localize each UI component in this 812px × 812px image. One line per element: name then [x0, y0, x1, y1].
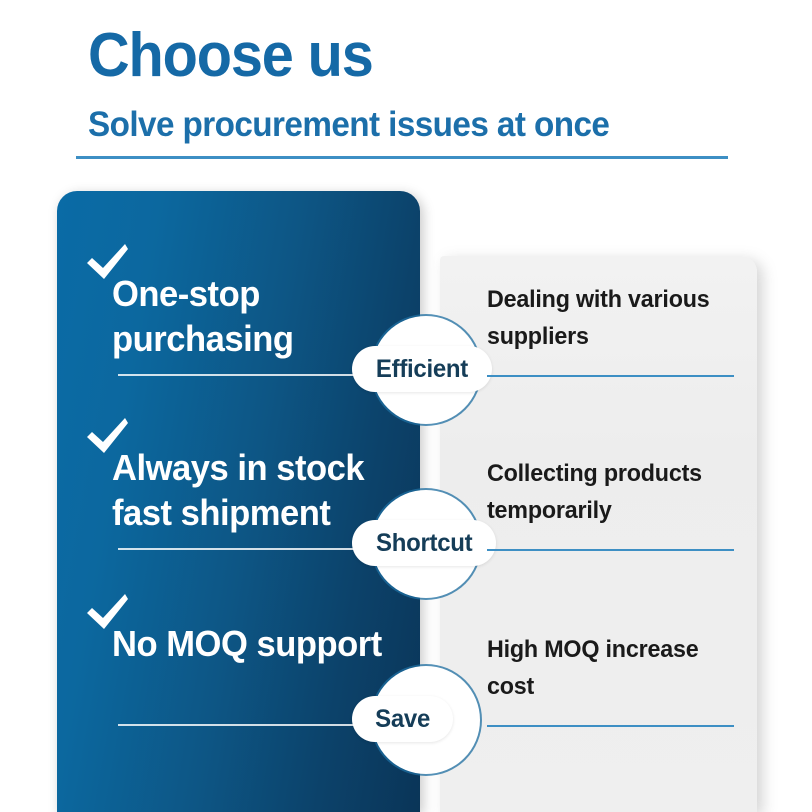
badge-label: Save — [375, 705, 430, 734]
choose-us-infographic: Choose us Solve procurement issues at on… — [0, 0, 812, 812]
drawback-divider — [487, 549, 734, 551]
drawback-divider — [487, 375, 734, 377]
header-divider — [76, 156, 728, 159]
advantage-text: No MOQ support — [112, 621, 410, 666]
drawback-divider — [487, 725, 734, 727]
badge-label: Efficient — [376, 355, 468, 384]
badge-pill: Shortcut — [352, 520, 496, 566]
drawback-text: Collecting products temporarily — [487, 455, 730, 529]
drawback-text: High MOQ increase cost — [487, 631, 730, 705]
page-subtitle: Solve procurement issues at once — [88, 104, 609, 146]
comparison-row: No MOQ support Save High MOQ increase co… — [0, 583, 812, 793]
drawback-text: Dealing with various suppliers — [487, 281, 730, 355]
header: Choose us Solve procurement issues at on… — [0, 0, 812, 190]
badge-pill: Save — [352, 696, 453, 742]
badge-pill: Efficient — [352, 346, 492, 392]
badge-label: Shortcut — [376, 529, 472, 558]
page-title: Choose us — [88, 23, 373, 89]
